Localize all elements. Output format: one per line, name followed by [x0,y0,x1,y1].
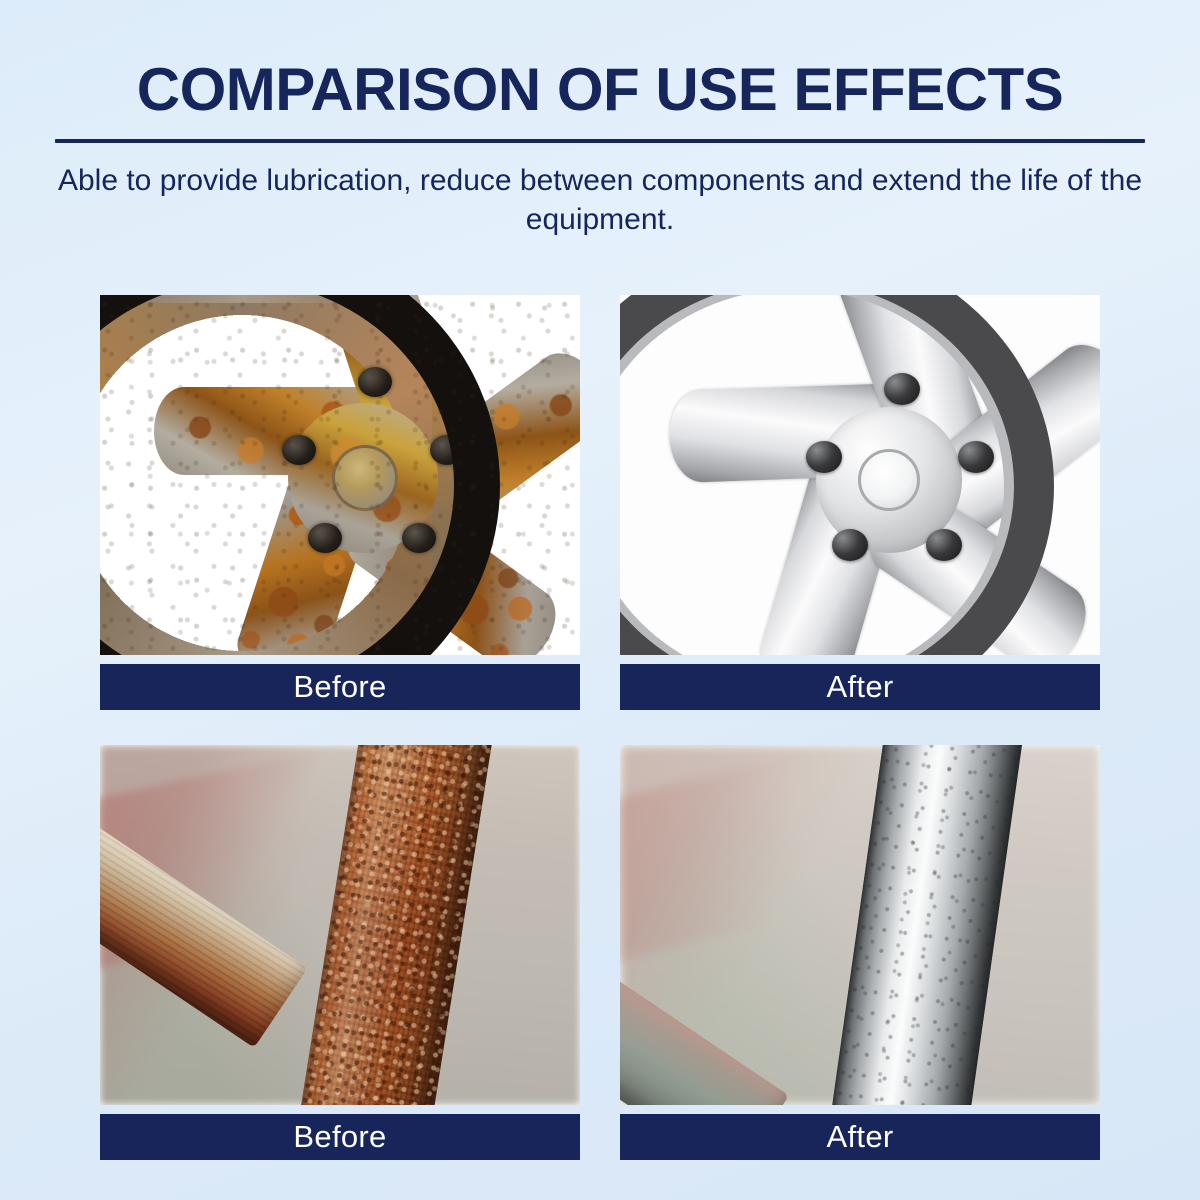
label-bar-before: Before [100,1114,580,1160]
panel-wheel-before: Before [100,295,580,710]
comparison-infographic: COMPARISON OF USE EFFECTS Able to provid… [0,0,1200,1200]
comparison-row-alloy-wheel: Before [100,295,1100,710]
photo-clean-wheel [620,295,1100,655]
label-text: After [827,1119,894,1155]
label-bar-before: Before [100,664,580,710]
photo-clean-pipe [620,745,1100,1105]
label-bar-after: After [620,1114,1100,1160]
comparison-grid: Before [100,295,1100,1195]
photo-rusty-wheel [100,295,580,655]
header: COMPARISON OF USE EFFECTS Able to provid… [0,0,1200,239]
panel-pipe-before: Before [100,745,580,1160]
panel-pipe-after: After [620,745,1100,1160]
panel-wheel-after: After [620,295,1100,710]
title-divider [55,139,1145,143]
label-text: Before [293,1119,386,1155]
photo-rusty-pipe [100,745,580,1105]
label-bar-after: After [620,664,1100,710]
label-text: After [827,669,894,705]
comparison-row-metal-pipe: Before After [100,745,1100,1160]
page-title: COMPARISON OF USE EFFECTS [0,58,1200,121]
label-text: Before [293,669,386,705]
page-subtitle: Able to provide lubrication, reduce betw… [50,161,1150,239]
